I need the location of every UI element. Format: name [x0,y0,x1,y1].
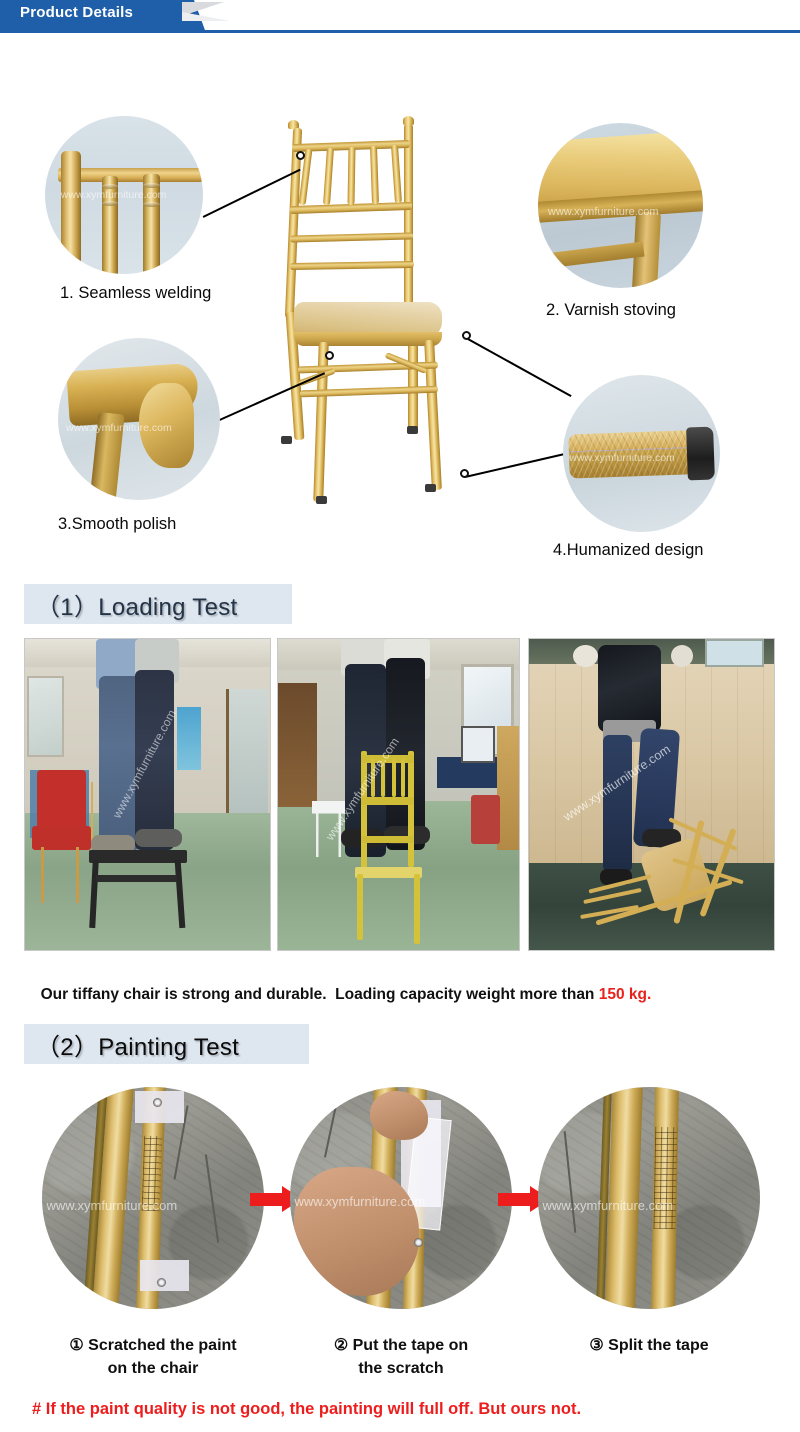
feature-photo-1: www.xymfurniture.com [45,116,203,274]
feature-photo-4: www.xymfurniture.com [563,375,720,532]
doorway [278,683,317,807]
chair-third-rail [290,232,413,242]
painting-test-footer: # If the paint quality is not good, the … [32,1400,581,1419]
scratch-hatch-marks [141,1136,161,1212]
loading-test-heading: （1）Loading Test [24,584,292,624]
white-stool [312,801,346,857]
red-stool [471,795,500,845]
painting-test-heading-text: （2）Painting Test [36,1027,239,1062]
chair-spindle-3 [347,147,355,205]
chair-foot-rear-left [281,436,292,444]
feature-label-1: 1. Seamless welding [60,284,211,303]
wooden-shelf [497,726,519,850]
chair-leg-2 [652,1087,680,1309]
window [705,639,764,667]
red-banquet-chair [37,770,86,832]
header-underline [0,30,800,33]
painting-caption-3-line1: ③ Split the tape [538,1334,760,1357]
header-ribbon-lower-icon [182,12,230,21]
chair-spindle-2 [323,148,334,205]
chair-back-post-closeup [61,151,82,265]
foot-cap-closeup [686,426,715,480]
chair-foot-front-right [425,484,436,492]
person-1-jeans [99,676,141,850]
chair-foot-front-left [316,496,327,504]
painting-caption-2-line2: the scratch [290,1357,512,1380]
painting-caption-2: ② Put the tape on the scratch [290,1334,512,1380]
loading-test-heading-text: （1）Loading Test [36,587,238,622]
painting-caption-1: ① Scratched the paint on the chair [42,1334,264,1380]
loading-capacity-value: 150 kg. [599,986,652,1003]
gold-tiffany-chair [355,751,456,944]
black-chair-seat [89,850,187,862]
leader-dot-3 [325,351,334,360]
feature-callout-section: www.xymfurniture.com 1. Seamless welding… [0,38,800,568]
leader-dot-1 [296,151,305,160]
chair-fourth-rail [290,261,414,270]
wall-poster [177,707,202,769]
loading-photo-1: www.xymfurniture.com [24,638,271,951]
page-header: Product Details [0,0,800,38]
office-window [27,676,64,757]
page-title: Product Details [20,4,133,21]
tape-label-top [135,1091,184,1122]
chair-seat-edge [294,332,442,346]
feature-photo-2: www.xymfurniture.com [538,123,703,288]
loading-photo-3: www.xymfurniture.com [528,638,775,951]
painting-photo-3: www.xymfurniture.com [538,1087,760,1309]
chair-back-post-right [404,124,413,316]
office-door [226,689,268,813]
painting-caption-1-line1: ① Scratched the paint [42,1334,264,1357]
weld-joint-closeup [139,383,194,467]
person-2-jeans [135,670,174,850]
computer-monitor [461,726,495,763]
tape-label-bottom [140,1260,189,1291]
leader-dot-2 [462,331,471,340]
painting-test-heading: （2）Painting Test [24,1024,309,1064]
loading-caption-text: Our tiffany chair is strong and durable.… [41,986,599,1003]
finger-top [370,1091,428,1140]
painting-photo-1: www.xymfurniture.com [42,1087,264,1309]
person-left-leg [603,735,632,872]
loading-photo-2: www.xymfurniture.com [277,638,520,951]
feature-label-3: 3.Smooth polish [58,515,176,534]
feature-label-2: 2. Varnish stoving [546,301,676,320]
painting-photo-2: www.xymfurniture.com [290,1087,512,1309]
chair-spindle-5 [391,145,402,203]
painting-caption-1-line2: on the chair [42,1357,264,1380]
painting-caption-3: ③ Split the tape [538,1334,760,1357]
chair-spindle-4 [370,146,379,204]
spindle-closeup-2 [143,174,160,274]
loading-capacity-caption: Our tiffany chair is strong and durable.… [32,968,651,1004]
scratch-hatch-marks [654,1127,677,1229]
feature-photo-3: www.xymfurniture.com [58,338,220,500]
spindle-closeup-1 [102,176,119,274]
feature-label-4: 4.Humanized design [553,541,703,560]
painting-caption-2-line1: ② Put the tape on [290,1334,512,1357]
chair-foot-rear-right [407,426,418,434]
leader-dot-4 [460,469,469,478]
